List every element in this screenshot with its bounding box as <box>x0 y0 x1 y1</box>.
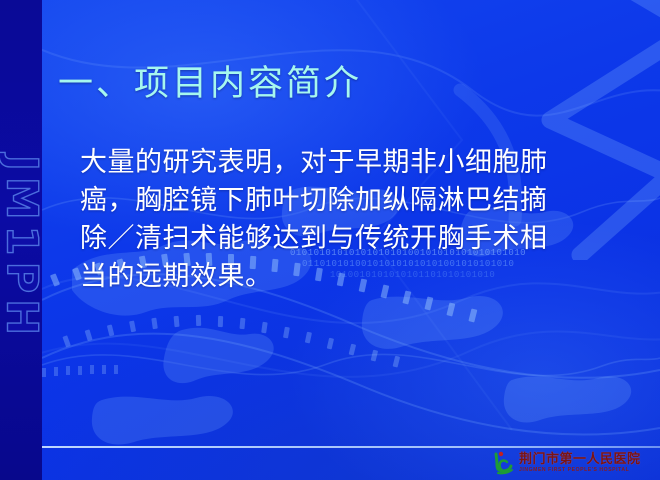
hospital-name-cn: 荆门市第一人民医院 <box>519 453 641 466</box>
hospital-logo-icon <box>492 451 514 475</box>
body-line: 当的远期效果。 <box>80 258 600 296</box>
hospital-name-en: JINGMEN FIRST PEOPLE'S HOSPITAL <box>519 468 643 473</box>
hospital-logo-text: 荆门市第一人民医院 JINGMEN FIRST PEOPLE'S HOSPITA… <box>519 453 641 473</box>
sidebar-accent-bar: JM1PH <box>0 0 42 480</box>
body-line: 大量的研究表明，对于早期非小细胞肺 <box>80 144 600 182</box>
sidebar-brand-text: JM1PH <box>0 155 43 341</box>
presentation-slide: 0101010101010101010100101010101010101010… <box>0 0 660 480</box>
hospital-logo: 荆门市第一人民医院 JINGMEN FIRST PEOPLE'S HOSPITA… <box>492 450 641 476</box>
footer-divider <box>42 446 660 448</box>
body-line: 除／清扫术能够达到与传统开胸手术相 <box>80 220 600 258</box>
slide-body-text: 大量的研究表明，对于早期非小细胞肺 癌，胸腔镜下肺叶切除加纵隔淋巴结摘 除／清扫… <box>80 144 600 296</box>
slide-title: 一、项目内容简介 <box>58 62 362 106</box>
body-line: 癌，胸腔镜下肺叶切除加纵隔淋巴结摘 <box>80 182 600 220</box>
